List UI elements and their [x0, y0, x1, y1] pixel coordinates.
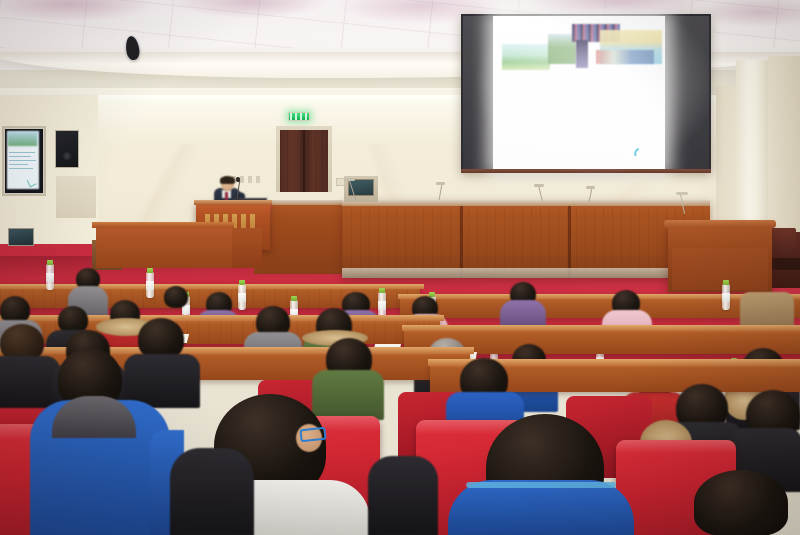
- audience-body: [368, 456, 438, 535]
- staff-table-top: [92, 222, 234, 228]
- wall-side-panel: [56, 176, 96, 218]
- wall-display-text-line: [9, 160, 36, 161]
- audience-desk-top: [402, 325, 800, 331]
- wall-display-photo: [8, 132, 37, 146]
- audience-body: [0, 356, 60, 408]
- side-desk-front-panel: [672, 248, 768, 290]
- microphone-head: [676, 192, 688, 195]
- podium-top-edge: [194, 200, 272, 205]
- wall-speaker: [55, 130, 79, 168]
- water-bottle[interactable]: [146, 272, 154, 298]
- wall-display-text-line: [9, 152, 35, 153]
- staff-table: [96, 226, 232, 268]
- screen-border-right: [665, 16, 709, 170]
- slide-thumbnail-column: [576, 40, 588, 68]
- wall-display-text-line: [9, 168, 33, 169]
- audience-body: [312, 370, 384, 420]
- seat-highlight: [616, 440, 736, 464]
- handheld-microphone-icon: [236, 177, 240, 182]
- water-bottle[interactable]: [722, 284, 730, 310]
- exit-sign-glyph: [290, 113, 308, 120]
- water-bottle[interactable]: [46, 264, 54, 290]
- audience-head: [164, 286, 188, 308]
- audience-body: [170, 448, 254, 535]
- jacket-zip-trim: [466, 482, 616, 488]
- staff-monitor: [8, 228, 34, 246]
- auditorium-photo: [0, 0, 800, 535]
- microphone-head: [586, 186, 595, 189]
- screen-border-left: [463, 16, 493, 170]
- slide-thumbnail-crowd: [596, 50, 654, 64]
- screen-bottom-rail: [461, 169, 711, 173]
- water-bottle[interactable]: [238, 284, 246, 310]
- microphone-head: [534, 184, 544, 187]
- wall-display-text-line: [9, 164, 28, 165]
- wall-display-text-line: [9, 156, 31, 157]
- foreground-head: [694, 470, 788, 535]
- door-center-split: [303, 130, 305, 192]
- slide-thumbnail-landscape: [502, 44, 550, 70]
- speaker-driver-icon: [63, 152, 71, 160]
- side-desk-top: [664, 220, 776, 228]
- staff-table-right-section: [232, 228, 262, 268]
- speaker-hair: [220, 176, 235, 184]
- microphone-head: [344, 178, 355, 181]
- glasses-icon: [299, 427, 326, 443]
- stage-chair-back: [770, 228, 796, 262]
- microphone-head: [436, 182, 445, 185]
- front-blue-jacket-body: [448, 480, 634, 535]
- head-table-base-trim: [342, 268, 710, 278]
